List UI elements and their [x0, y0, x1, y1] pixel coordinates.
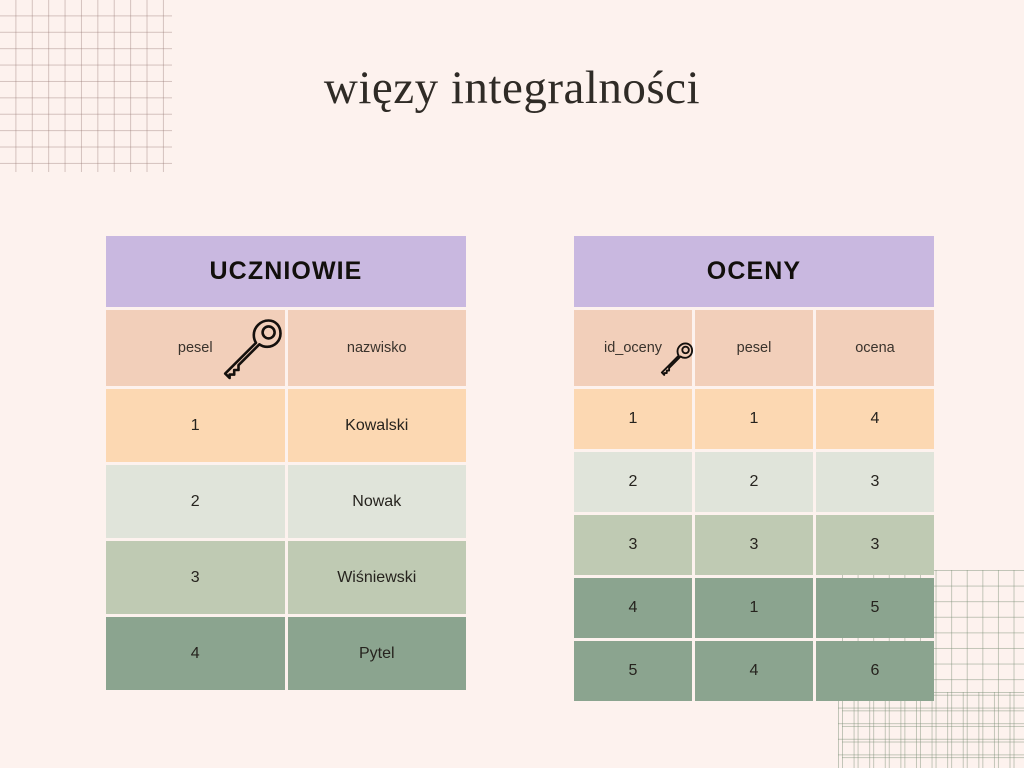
data-cell: 5 [816, 578, 934, 638]
data-cell: 2 [695, 452, 813, 512]
data-cell: 4 [816, 389, 934, 449]
data-cell: 3 [574, 515, 692, 575]
table-row: 1 1 4 [574, 389, 934, 449]
grid-decoration-bottom-right-lower [838, 692, 1024, 768]
data-cell: 3 [816, 452, 934, 512]
field-label-nazwisko: nazwisko [347, 340, 407, 356]
field-cell-nazwisko: nazwisko [288, 310, 467, 386]
table-row: 4 1 5 [574, 578, 934, 638]
data-cell: 1 [106, 389, 285, 462]
field-cell-ocena: ocena [816, 310, 934, 386]
table-title-oceny: OCENY [574, 236, 934, 307]
data-cell: Wiśniewski [288, 541, 467, 614]
data-cell: 6 [816, 641, 934, 701]
field-label-pesel: pesel [178, 340, 213, 356]
table-row: 4 Pytel [106, 617, 466, 690]
field-name-row-oceny: id_oceny pesel ocena [574, 310, 934, 386]
data-cell: 3 [695, 515, 813, 575]
table-row: 2 Nowak [106, 465, 466, 538]
table-row: 2 2 3 [574, 452, 934, 512]
field-cell-id-oceny: id_oceny [574, 310, 692, 386]
table-row: 5 4 6 [574, 641, 934, 701]
key-icon [660, 341, 693, 376]
table-row: 3 3 3 [574, 515, 934, 575]
table-row: 1 Kowalski [106, 389, 466, 462]
data-cell: Pytel [288, 617, 467, 690]
data-cell: 3 [816, 515, 934, 575]
data-cell: 4 [106, 617, 285, 690]
data-cell: 4 [574, 578, 692, 638]
entity-table-oceny: OCENY id_oceny pesel ocena 1 1 4 2 2 3 3… [574, 236, 934, 701]
data-cell: 4 [695, 641, 813, 701]
field-name-row-uczniowie: pesel nazwisko [106, 310, 466, 386]
field-label-pesel: pesel [737, 340, 772, 356]
field-label-id-oceny: id_oceny [604, 340, 662, 356]
data-cell: 5 [574, 641, 692, 701]
page-title: więzy integralności [0, 61, 1024, 115]
data-cell: Nowak [288, 465, 467, 538]
data-cell: 3 [106, 541, 285, 614]
entity-table-uczniowie: UCZNIOWIE pesel nazwisko 1 Kowalski 2 No… [106, 236, 466, 690]
data-cell: 1 [695, 389, 813, 449]
field-cell-pesel: pesel [695, 310, 813, 386]
field-label-ocena: ocena [855, 340, 895, 356]
field-cell-pesel: pesel [106, 310, 285, 386]
data-cell: 1 [574, 389, 692, 449]
key-icon [222, 316, 282, 380]
table-title-uczniowie: UCZNIOWIE [106, 236, 466, 307]
table-row: 3 Wiśniewski [106, 541, 466, 614]
data-cell: 2 [106, 465, 285, 538]
data-cell: 1 [695, 578, 813, 638]
data-cell: Kowalski [288, 389, 467, 462]
data-cell: 2 [574, 452, 692, 512]
